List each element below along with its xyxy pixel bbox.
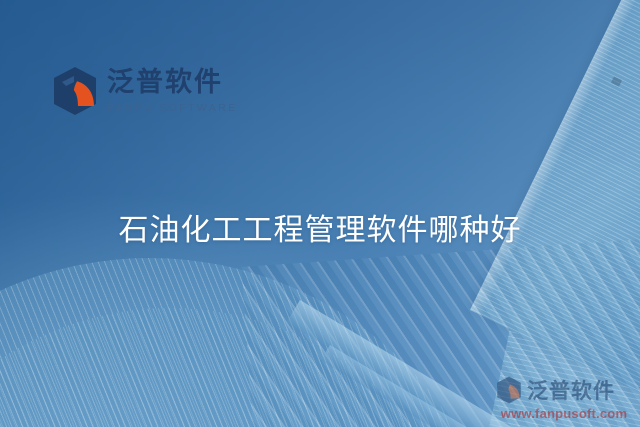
brand-text: 泛普软件 FANPU SOFTWARE: [107, 69, 238, 114]
brand-logo: 泛普软件 FANPU SOFTWARE: [52, 66, 238, 116]
fanpu-hexagon-logo-icon: [52, 66, 98, 116]
brand-name-en: FANPU SOFTWARE: [107, 103, 238, 114]
curved-building-inner: [0, 308, 490, 427]
watermark-name-cn: 泛普软件: [527, 375, 615, 405]
curved-building-outer: [0, 258, 500, 427]
watermark: 泛普软件 www.fanpusoft.com: [496, 375, 632, 421]
watermark-logo-row: 泛普软件: [496, 375, 632, 405]
page-title: 石油化工工程管理软件哪种好: [0, 205, 640, 249]
fanpu-hexagon-logo-icon: [496, 376, 522, 404]
curved-building-group: [0, 248, 500, 427]
brand-name-cn: 泛普软件: [107, 69, 238, 96]
promo-banner: 泛普软件 FANPU SOFTWARE 石油化工工程管理软件哪种好 泛普软件 w…: [0, 0, 640, 427]
watermark-url: www.fanpusoft.com: [496, 406, 632, 421]
